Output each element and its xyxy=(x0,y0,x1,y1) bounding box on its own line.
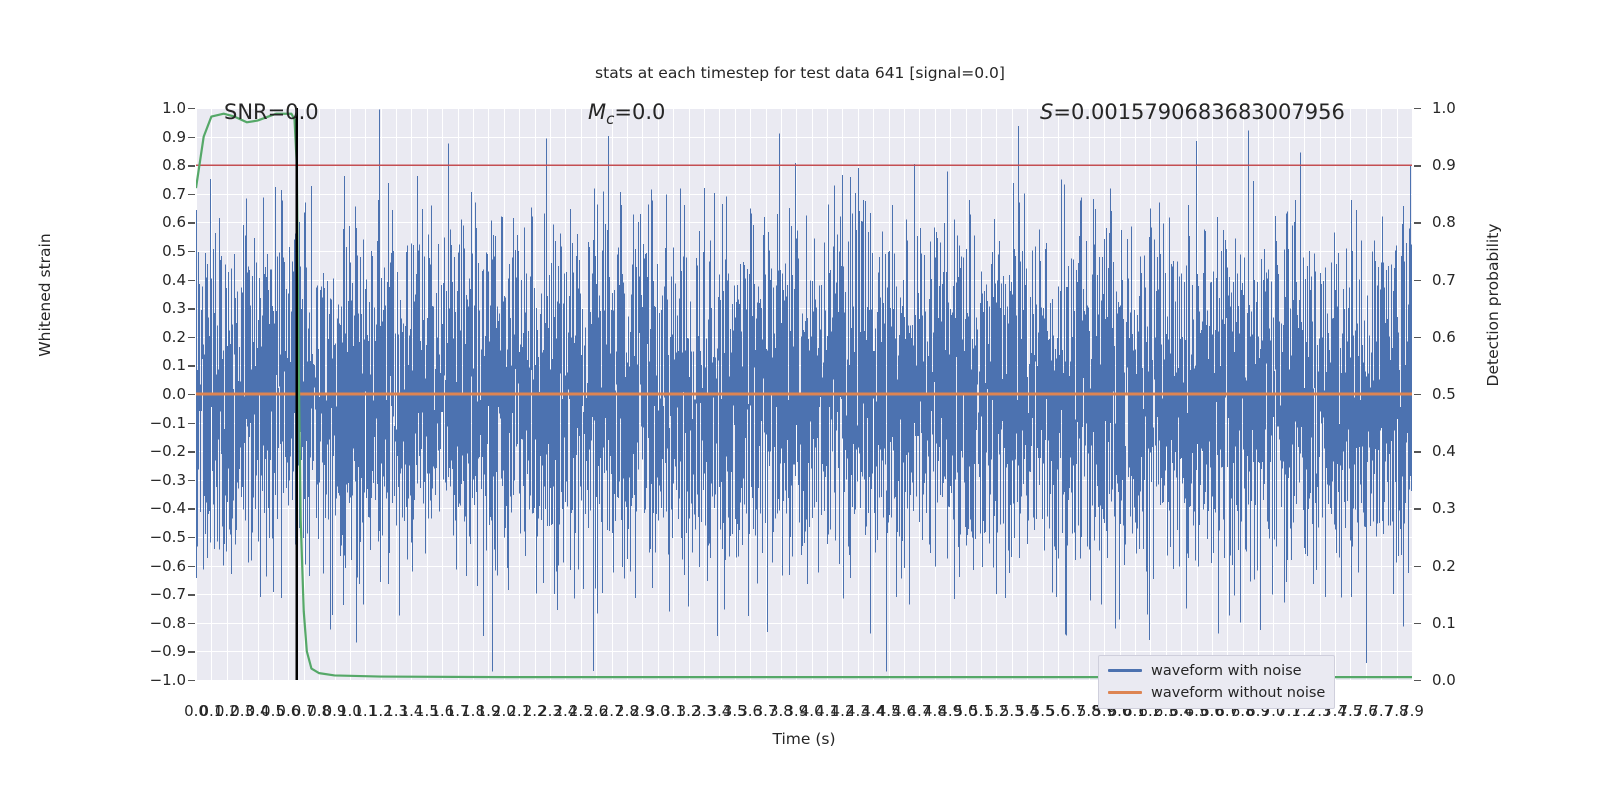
y-axis-left-tick-label: −0.8 xyxy=(96,614,186,632)
y-axis-left-tick-mark xyxy=(188,594,195,595)
grid-line-vertical xyxy=(1412,108,1413,680)
y-axis-left-tick-label: −0.2 xyxy=(96,442,186,460)
y-axis-left-tick-mark xyxy=(188,137,195,138)
y-axis-right-tick-label: 0.6 xyxy=(1432,328,1522,346)
y-axis-left-tick-label: 0.4 xyxy=(96,271,186,289)
waveform-with-noise-path xyxy=(197,110,1412,672)
y-axis-left-tick-label: −0.3 xyxy=(96,471,186,489)
y-axis-left-tick-mark xyxy=(188,108,195,109)
y-axis-left-tick-label: −0.4 xyxy=(96,499,186,517)
annotation-snr: SNR=0.0 xyxy=(224,100,319,124)
y-axis-left-tick-label: 0.7 xyxy=(96,185,186,203)
annotation-chirp-mass: Mc=0.0 xyxy=(588,100,665,128)
y-axis-right-tick-mark xyxy=(1414,623,1421,624)
y-axis-left-tick-mark xyxy=(188,165,195,166)
y-axis-right-tick-mark xyxy=(1414,280,1421,281)
y-axis-left-tick-mark xyxy=(188,537,195,538)
y-axis-left-tick-label: −0.9 xyxy=(96,642,186,660)
y-axis-left-tick-label: −0.1 xyxy=(96,414,186,432)
y-axis-right-tick-label: 0.4 xyxy=(1432,442,1522,460)
y-axis-right-tick-label: 1.0 xyxy=(1432,99,1522,117)
y-axis-left-tick-mark xyxy=(188,451,195,452)
y-axis-left-tick-label: 0.0 xyxy=(96,385,186,403)
y-axis-left-tick-mark xyxy=(188,222,195,223)
legend-color-swatch xyxy=(1108,669,1142,672)
annotation-statistic-symbol: S xyxy=(1040,100,1053,124)
y-axis-left-tick-label: 0.6 xyxy=(96,213,186,231)
y-axis-right-tick-mark xyxy=(1414,108,1421,109)
x-axis-label: Time (s) xyxy=(196,730,1412,748)
y-axis-right-tick-label: 0.0 xyxy=(1432,671,1522,689)
y-axis-left-tick-mark xyxy=(188,308,195,309)
plot-data-layer xyxy=(196,108,1412,680)
y-axis-right-tick-label: 0.3 xyxy=(1432,499,1522,517)
matplotlib-figure: stats at each timestep for test data 641… xyxy=(0,0,1600,800)
y-axis-right-tick-label: 0.5 xyxy=(1432,385,1522,403)
y-axis-left-tick-mark xyxy=(188,623,195,624)
y-axis-left-tick-mark xyxy=(188,480,195,481)
y-axis-left-label: Whitened strain xyxy=(36,170,54,420)
legend-item[interactable]: waveform with noise xyxy=(1108,661,1325,680)
annotation-statistic: S=0.0015790683683007956 xyxy=(1040,100,1345,124)
y-axis-left-tick-label: −1.0 xyxy=(96,671,186,689)
y-axis-left-tick-mark xyxy=(188,680,195,681)
y-axis-left-tick-mark xyxy=(188,394,195,395)
annotation-chirp-mass-value: =0.0 xyxy=(614,100,665,124)
y-axis-left-tick-mark xyxy=(188,337,195,338)
y-axis-left-tick-label: 0.1 xyxy=(96,356,186,374)
annotation-statistic-value: =0.0015790683683007956 xyxy=(1053,100,1345,124)
y-axis-right-tick-label: 0.2 xyxy=(1432,557,1522,575)
y-axis-left-tick-label: 0.9 xyxy=(96,128,186,146)
y-axis-left-tick-mark xyxy=(188,365,195,366)
y-axis-left-tick-label: 1.0 xyxy=(96,99,186,117)
y-axis-left-tick-label: 0.3 xyxy=(96,299,186,317)
y-axis-right-tick-label: 0.7 xyxy=(1432,271,1522,289)
y-axis-left-tick-label: 0.2 xyxy=(96,328,186,346)
y-axis-right-tick-label: 0.9 xyxy=(1432,156,1522,174)
legend-item[interactable]: waveform without noise xyxy=(1108,683,1325,702)
y-axis-right-tick-mark xyxy=(1414,337,1421,338)
y-axis-left-tick-mark xyxy=(188,566,195,567)
x-axis-tick-label: 7.9 xyxy=(1400,702,1424,720)
y-axis-left-tick-mark xyxy=(188,251,195,252)
y-axis-right-tick-mark xyxy=(1414,165,1421,166)
legend-item-label: waveform with noise xyxy=(1151,663,1302,679)
y-axis-left-tick-label: −0.7 xyxy=(96,585,186,603)
y-axis-left-tick-mark xyxy=(188,280,195,281)
chart-title: stats at each timestep for test data 641… xyxy=(0,64,1600,82)
y-axis-left-tick-label: 0.8 xyxy=(96,156,186,174)
y-axis-left-tick-label: 0.5 xyxy=(96,242,186,260)
y-axis-left-tick-mark xyxy=(188,651,195,652)
y-axis-right-tick-mark xyxy=(1414,680,1421,681)
y-axis-right-tick-label: 0.1 xyxy=(1432,614,1522,632)
y-axis-right-label: Detection probability xyxy=(1484,180,1502,430)
y-axis-right-tick-mark xyxy=(1414,566,1421,567)
y-axis-right-tick-label: 0.8 xyxy=(1432,213,1522,231)
y-axis-right-tick-mark xyxy=(1414,222,1421,223)
y-axis-left-tick-mark xyxy=(188,508,195,509)
legend-color-swatch xyxy=(1108,691,1142,694)
y-axis-right-tick-mark xyxy=(1414,451,1421,452)
y-axis-right-tick-mark xyxy=(1414,394,1421,395)
y-axis-left-tick-label: −0.5 xyxy=(96,528,186,546)
y-axis-left-tick-label: −0.6 xyxy=(96,557,186,575)
legend-item-label: waveform without noise xyxy=(1151,685,1325,701)
annotation-chirp-mass-symbol: M xyxy=(588,100,606,124)
chart-legend[interactable]: waveform with noisewaveform without nois… xyxy=(1098,655,1335,709)
y-axis-left-tick-mark xyxy=(188,423,195,424)
y-axis-right-tick-mark xyxy=(1414,508,1421,509)
y-axis-left-tick-mark xyxy=(188,194,195,195)
series-waveform-with-noise xyxy=(197,110,1412,672)
